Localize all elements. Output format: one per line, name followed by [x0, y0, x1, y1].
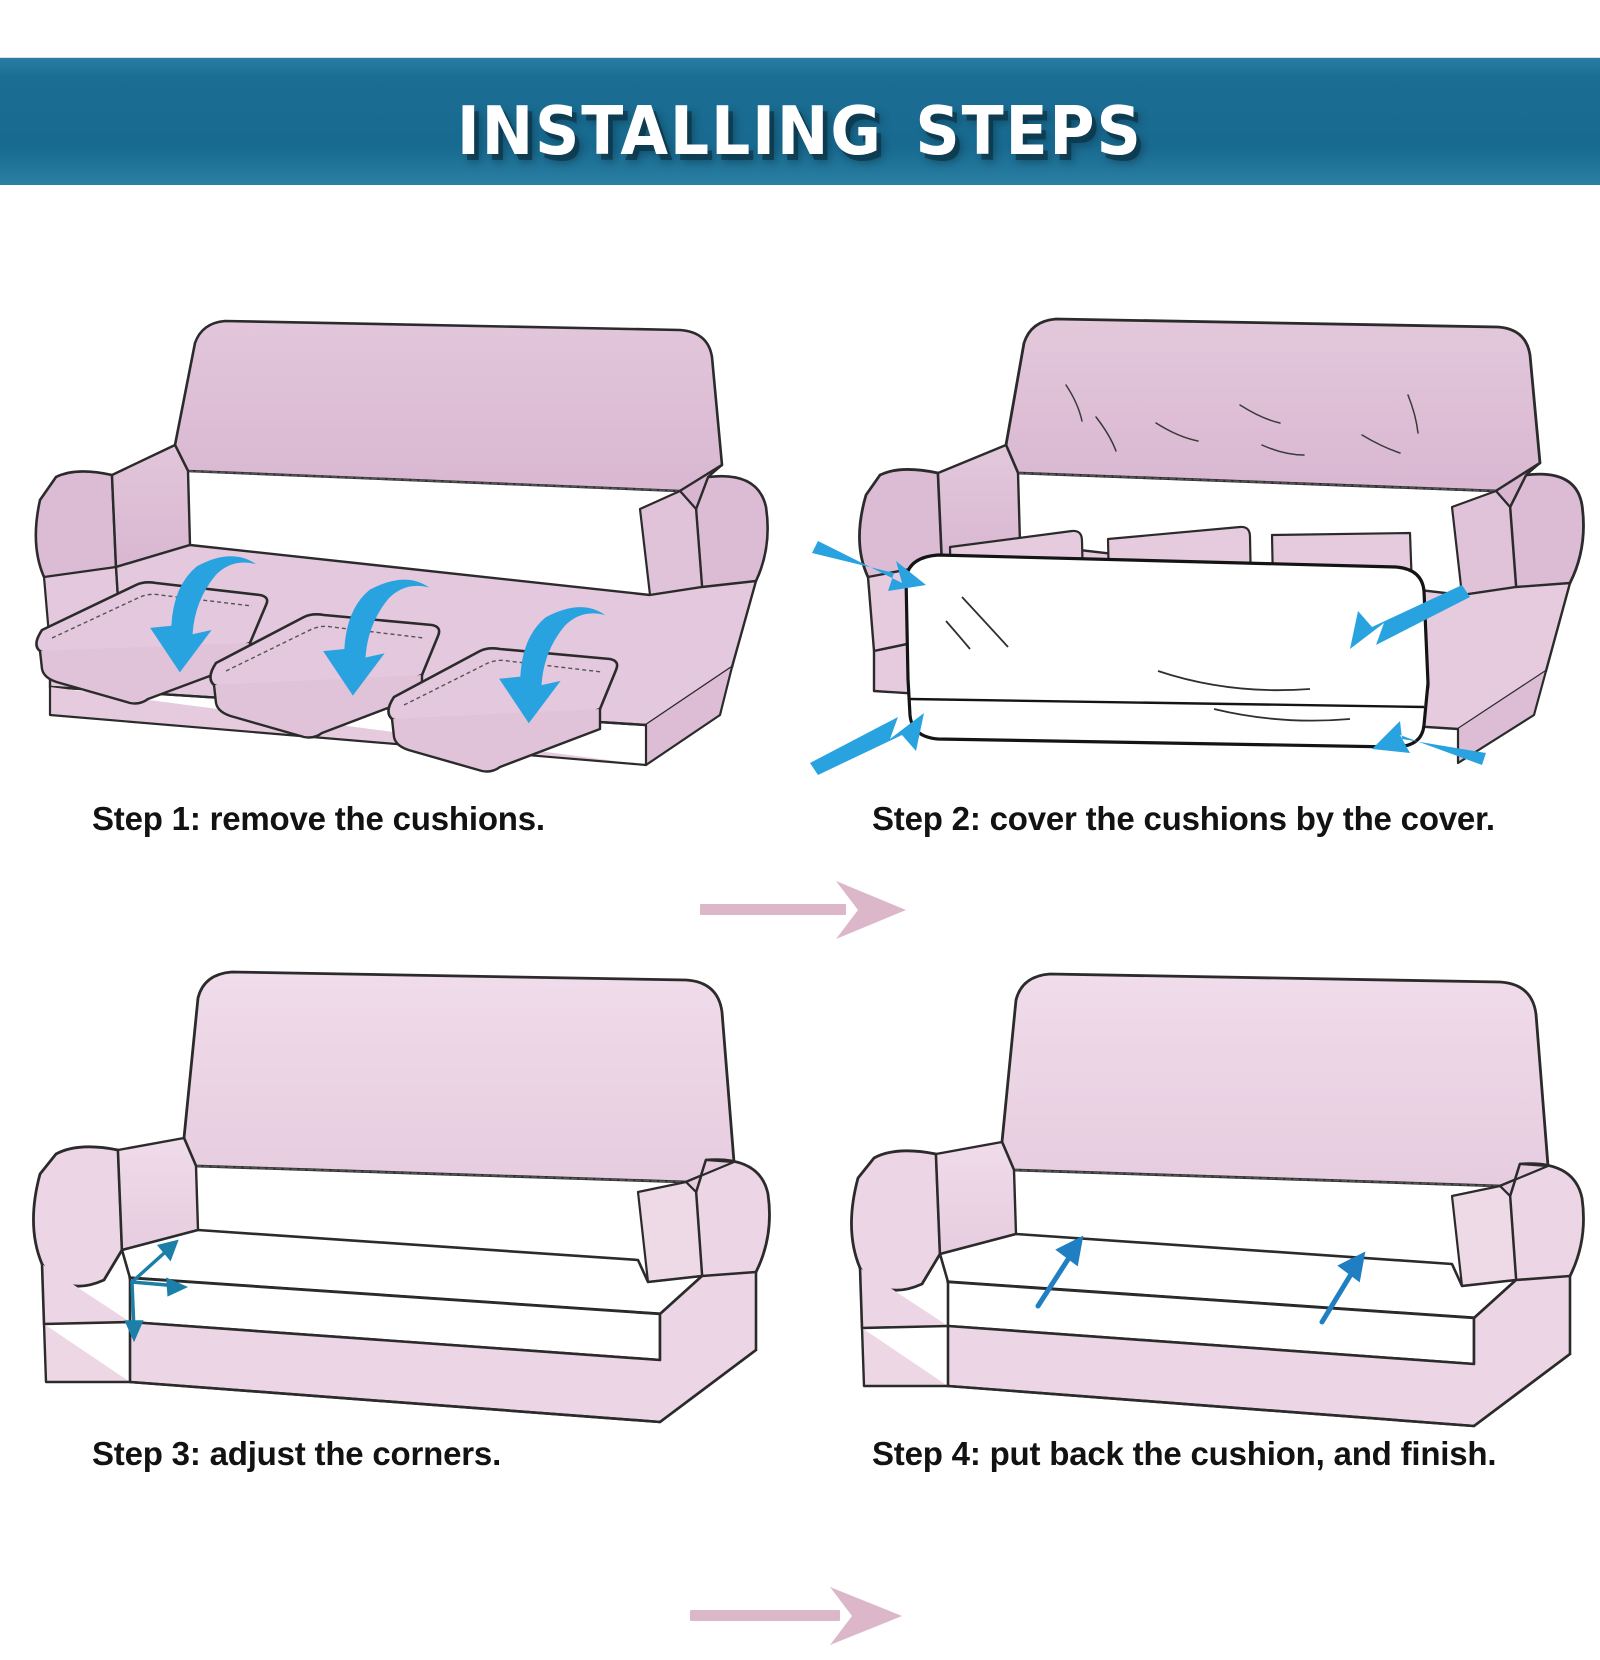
step-card-2: Step 2: cover the cushions by the cover. [810, 295, 1590, 925]
page-header-banner: Installing Steps [0, 57, 1600, 185]
step-4-caption: Step 4: put back the cushion, and finish… [810, 1435, 1600, 1473]
step-card-1: Step 1: remove the cushions. [20, 295, 780, 925]
right-arrow-icon [690, 1587, 902, 1645]
straight-arrow-icon-left-bottom [810, 713, 924, 775]
step-2-caption: Step 2: cover the cushions by the cover. [810, 800, 1600, 838]
step-4-illustration [810, 930, 1590, 1430]
step-3-caption: Step 3: adjust the corners. [20, 1435, 852, 1473]
steps-grid: Step 1: remove the cushions. [0, 190, 1600, 1600]
step-1-caption: Step 1: remove the cushions. [20, 800, 852, 838]
covered-sofa-body [33, 972, 769, 1422]
step-card-3: Step 3: adjust the corners. [20, 930, 780, 1570]
step-3-illustration [20, 930, 780, 1430]
step-card-4: Step 4: put back the cushion, and finish… [810, 930, 1590, 1570]
connector-arrow-bottom [690, 1570, 920, 1660]
right-arrow-icon [700, 881, 906, 939]
page-title: Installing Steps [457, 73, 1143, 169]
step-1-illustration [20, 295, 780, 795]
connector-arrow-top [700, 865, 920, 955]
white-cushion-cover [906, 555, 1428, 747]
step-2-illustration [810, 295, 1590, 795]
covered-sofa-body [851, 974, 1583, 1426]
